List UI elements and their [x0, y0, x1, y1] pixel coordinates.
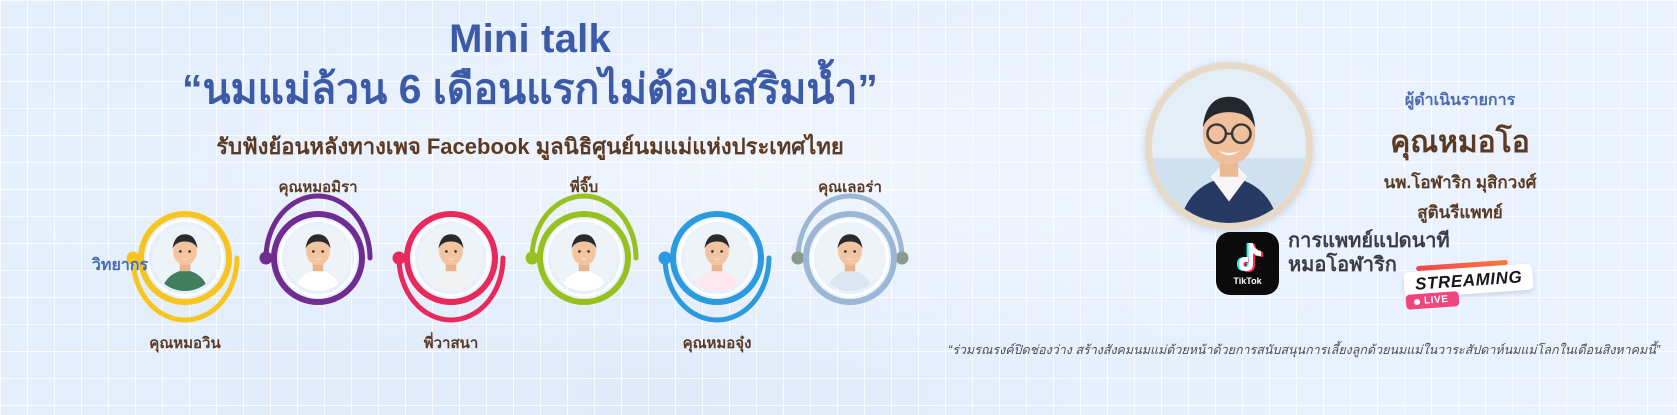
tiktok-icon[interactable]: TikTok — [1216, 232, 1279, 295]
speaker-name: คุณหมอวิน — [149, 331, 220, 355]
speaker-avatar — [418, 225, 484, 291]
subtitle: รับฟังย้อนหลังทางเพจ Facebook มูลนิธิศูน… — [0, 129, 1060, 164]
speaker-avatar — [285, 225, 351, 291]
speaker-portrait-illustration — [418, 225, 484, 291]
headline-block: Mini talk “นมแม่ล้วน 6 เดือนแรกไม่ต้องเส… — [0, 18, 1060, 164]
speaker-portrait-illustration — [152, 225, 218, 291]
speaker-name: พี่วาสนา — [424, 331, 479, 355]
live-label: LIVE — [1424, 294, 1449, 307]
speaker-avatar — [817, 225, 883, 291]
speaker-portrait-illustration — [285, 225, 351, 291]
speaker-portrait-illustration — [684, 225, 750, 291]
streaming-label: STREAMING — [1414, 267, 1522, 293]
promo-banner: Mini talk “นมแม่ล้วน 6 เดือนแรกไม่ต้องเส… — [0, 0, 1677, 415]
host-title-line-2: สูตินรีแพทย์ — [1330, 199, 1590, 226]
tiktok-note-icon — [1233, 241, 1263, 275]
host-info: ผู้ดำเนินรายการ คุณหมอโอ นพ.โอฬาริก มุสิ… — [1330, 88, 1590, 226]
title-line-2: “นมแม่ล้วน 6 เดือนแรกไม่ต้องเสริมน้ำ” — [0, 66, 1060, 113]
speaker-avatar — [152, 225, 218, 291]
channel-line-1: การแพทย์แปดนาที — [1288, 230, 1498, 254]
speaker-portrait-illustration — [817, 225, 883, 291]
footer-note: “ร่วมรณรงค์ปิดช่องว่าง สร้างสังคมนมแม่ด้… — [840, 340, 1660, 360]
host-name: คุณหมอโอ — [1330, 119, 1590, 166]
live-badge: LIVE — [1406, 291, 1460, 310]
speaker-name: พี่จิ๊บ — [570, 175, 598, 199]
host-portrait-illustration — [1152, 69, 1306, 223]
speaker-name: คุณเลอร่า — [818, 175, 882, 199]
timeline-node — [896, 252, 909, 265]
host-role: ผู้ดำเนินรายการ — [1330, 88, 1590, 113]
host-avatar — [1145, 62, 1313, 230]
speaker-name: คุณหมอจุ๋ง — [683, 331, 752, 355]
speaker-portrait-illustration — [551, 225, 617, 291]
speaker-avatar — [684, 225, 750, 291]
speaker-name: คุณหมอมิรา — [278, 175, 357, 199]
tiktok-label: TikTok — [1233, 276, 1261, 286]
host-title-line-1: นพ.โอฬาริก มุสิกวงศ์ — [1330, 169, 1590, 196]
speaker-avatar — [551, 225, 617, 291]
title-line-1: Mini talk — [0, 18, 1060, 60]
speaker-timeline: คุณหมอวินคุณหมอมิราพี่วาสนาพี่จิ๊บคุณหมอ… — [0, 175, 1060, 350]
timeline-section-label: วิทยากร — [92, 253, 148, 278]
live-dot-icon — [1414, 298, 1420, 304]
